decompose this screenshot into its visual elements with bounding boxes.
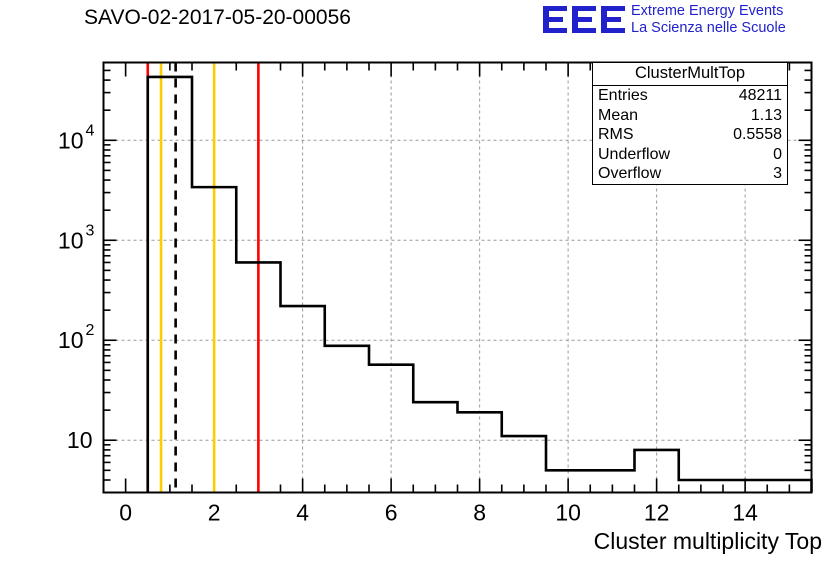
y-axis-tick-label: 10 [58,127,84,153]
y-axis-tick-label: 10 [67,427,93,453]
x-axis-tick-label: 8 [473,500,486,526]
x-axis-tick-label: 4 [296,500,309,526]
stats-key: Underflow [598,145,670,165]
stats-value: 48211 [739,86,782,106]
stats-rows: Entries48211Mean1.13RMS0.5558Underflow0O… [593,86,787,184]
stats-row: Entries48211 [593,86,787,106]
y-axis-tick-label-group: 104 [58,122,95,153]
x-axis-tick-label: 12 [644,500,670,526]
stats-row: Underflow0 [593,145,787,165]
stats-key: Mean [598,106,638,126]
stats-row: Mean1.13 [593,106,787,126]
root-canvas: SAVO-02-2017-05-20-00056 Extreme Energy … [0,0,836,572]
stats-box: ClusterMultTop Entries48211Mean1.13RMS0.… [592,62,788,185]
stats-key: Entries [598,86,648,106]
y-axis-tick-label-group: 102 [58,322,95,353]
y-axis-tick-label-group: 10 [67,427,93,453]
y-axis-tick-label: 10 [58,327,84,353]
x-axis-tick-label: 2 [208,500,221,526]
y-axis-tick-label-group: 103 [58,222,95,253]
x-axis-tick-label: 6 [385,500,398,526]
stats-value: 0 [773,145,782,165]
stats-row: RMS0.5558 [593,125,787,145]
y-axis-tick-exponent: 2 [86,322,95,339]
x-axis-tick-label: 14 [732,500,758,526]
stats-row: Overflow3 [593,164,787,184]
stats-key: RMS [598,125,634,145]
y-axis-tick-exponent: 4 [86,122,95,139]
x-axis-label: Cluster multiplicity Top [594,528,822,555]
y-axis-tick-label: 10 [58,227,84,253]
stats-key: Overflow [598,164,661,184]
stats-value: 0.5558 [733,125,782,145]
stats-value: 1.13 [751,106,782,126]
y-axis-tick-exponent: 3 [86,222,95,239]
x-axis-tick-label: 0 [119,500,132,526]
stats-title: ClusterMultTop [593,63,787,86]
x-axis-tick-label: 10 [555,500,581,526]
stats-value: 3 [773,164,782,184]
